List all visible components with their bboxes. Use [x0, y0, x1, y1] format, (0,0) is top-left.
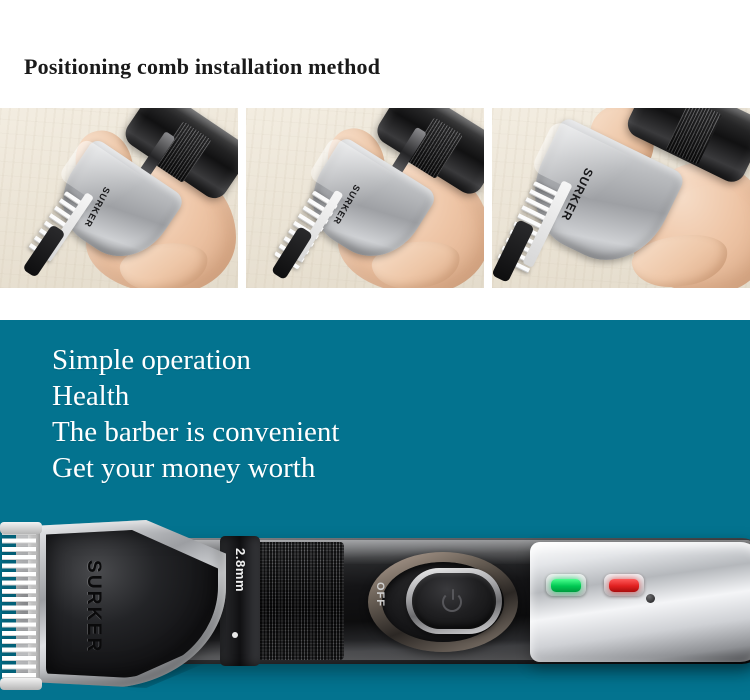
slogan-item-2: Health [52, 378, 692, 414]
charging-indicator-light [551, 579, 581, 592]
installation-photo-strip: SURKER SURKER [0, 108, 750, 288]
collar-index-dot [232, 632, 238, 638]
hero-product-image: OFF 2.8mm ↑ SURKER [0, 516, 750, 700]
charging-indicator [546, 574, 586, 596]
hero-blade-cap-bottom [0, 678, 42, 690]
installation-photo-1: SURKER [0, 108, 238, 288]
features-banner: Simple operation Health The barber is co… [0, 320, 750, 700]
hero-brand-label: SURKER [82, 560, 104, 653]
tail-screw [646, 594, 655, 603]
hero-grip-texture [256, 542, 344, 660]
power-icon [442, 592, 462, 612]
power-off-label: OFF [374, 582, 386, 607]
installation-photo-2: SURKER [246, 108, 484, 288]
installation-photo-3: SURKER [492, 108, 750, 288]
product-marketing-page: Positioning comb installation method SUR… [0, 0, 750, 700]
hero-blade-teeth [2, 530, 36, 680]
title-section: Positioning comb installation method [0, 0, 750, 108]
length-adjust-collar[interactable]: 2.8mm [220, 536, 260, 666]
power-indicator-light [609, 579, 639, 592]
section-divider [0, 288, 750, 320]
power-indicator [604, 574, 644, 596]
photo-gap-1 [238, 108, 246, 288]
hero-chrome-tail [530, 542, 750, 662]
photo-gap-2 [484, 108, 492, 288]
slogan-item-1: Simple operation [52, 342, 692, 378]
hero-blade-cap-top [0, 522, 42, 534]
slogan-list: Simple operation Health The barber is co… [52, 342, 692, 486]
page-title: Positioning comb installation method [24, 54, 380, 80]
cut-length-label: 2.8mm [233, 548, 248, 592]
slogan-item-4: Get your money worth [52, 450, 692, 486]
slogan-item-3: The barber is convenient [52, 414, 692, 450]
